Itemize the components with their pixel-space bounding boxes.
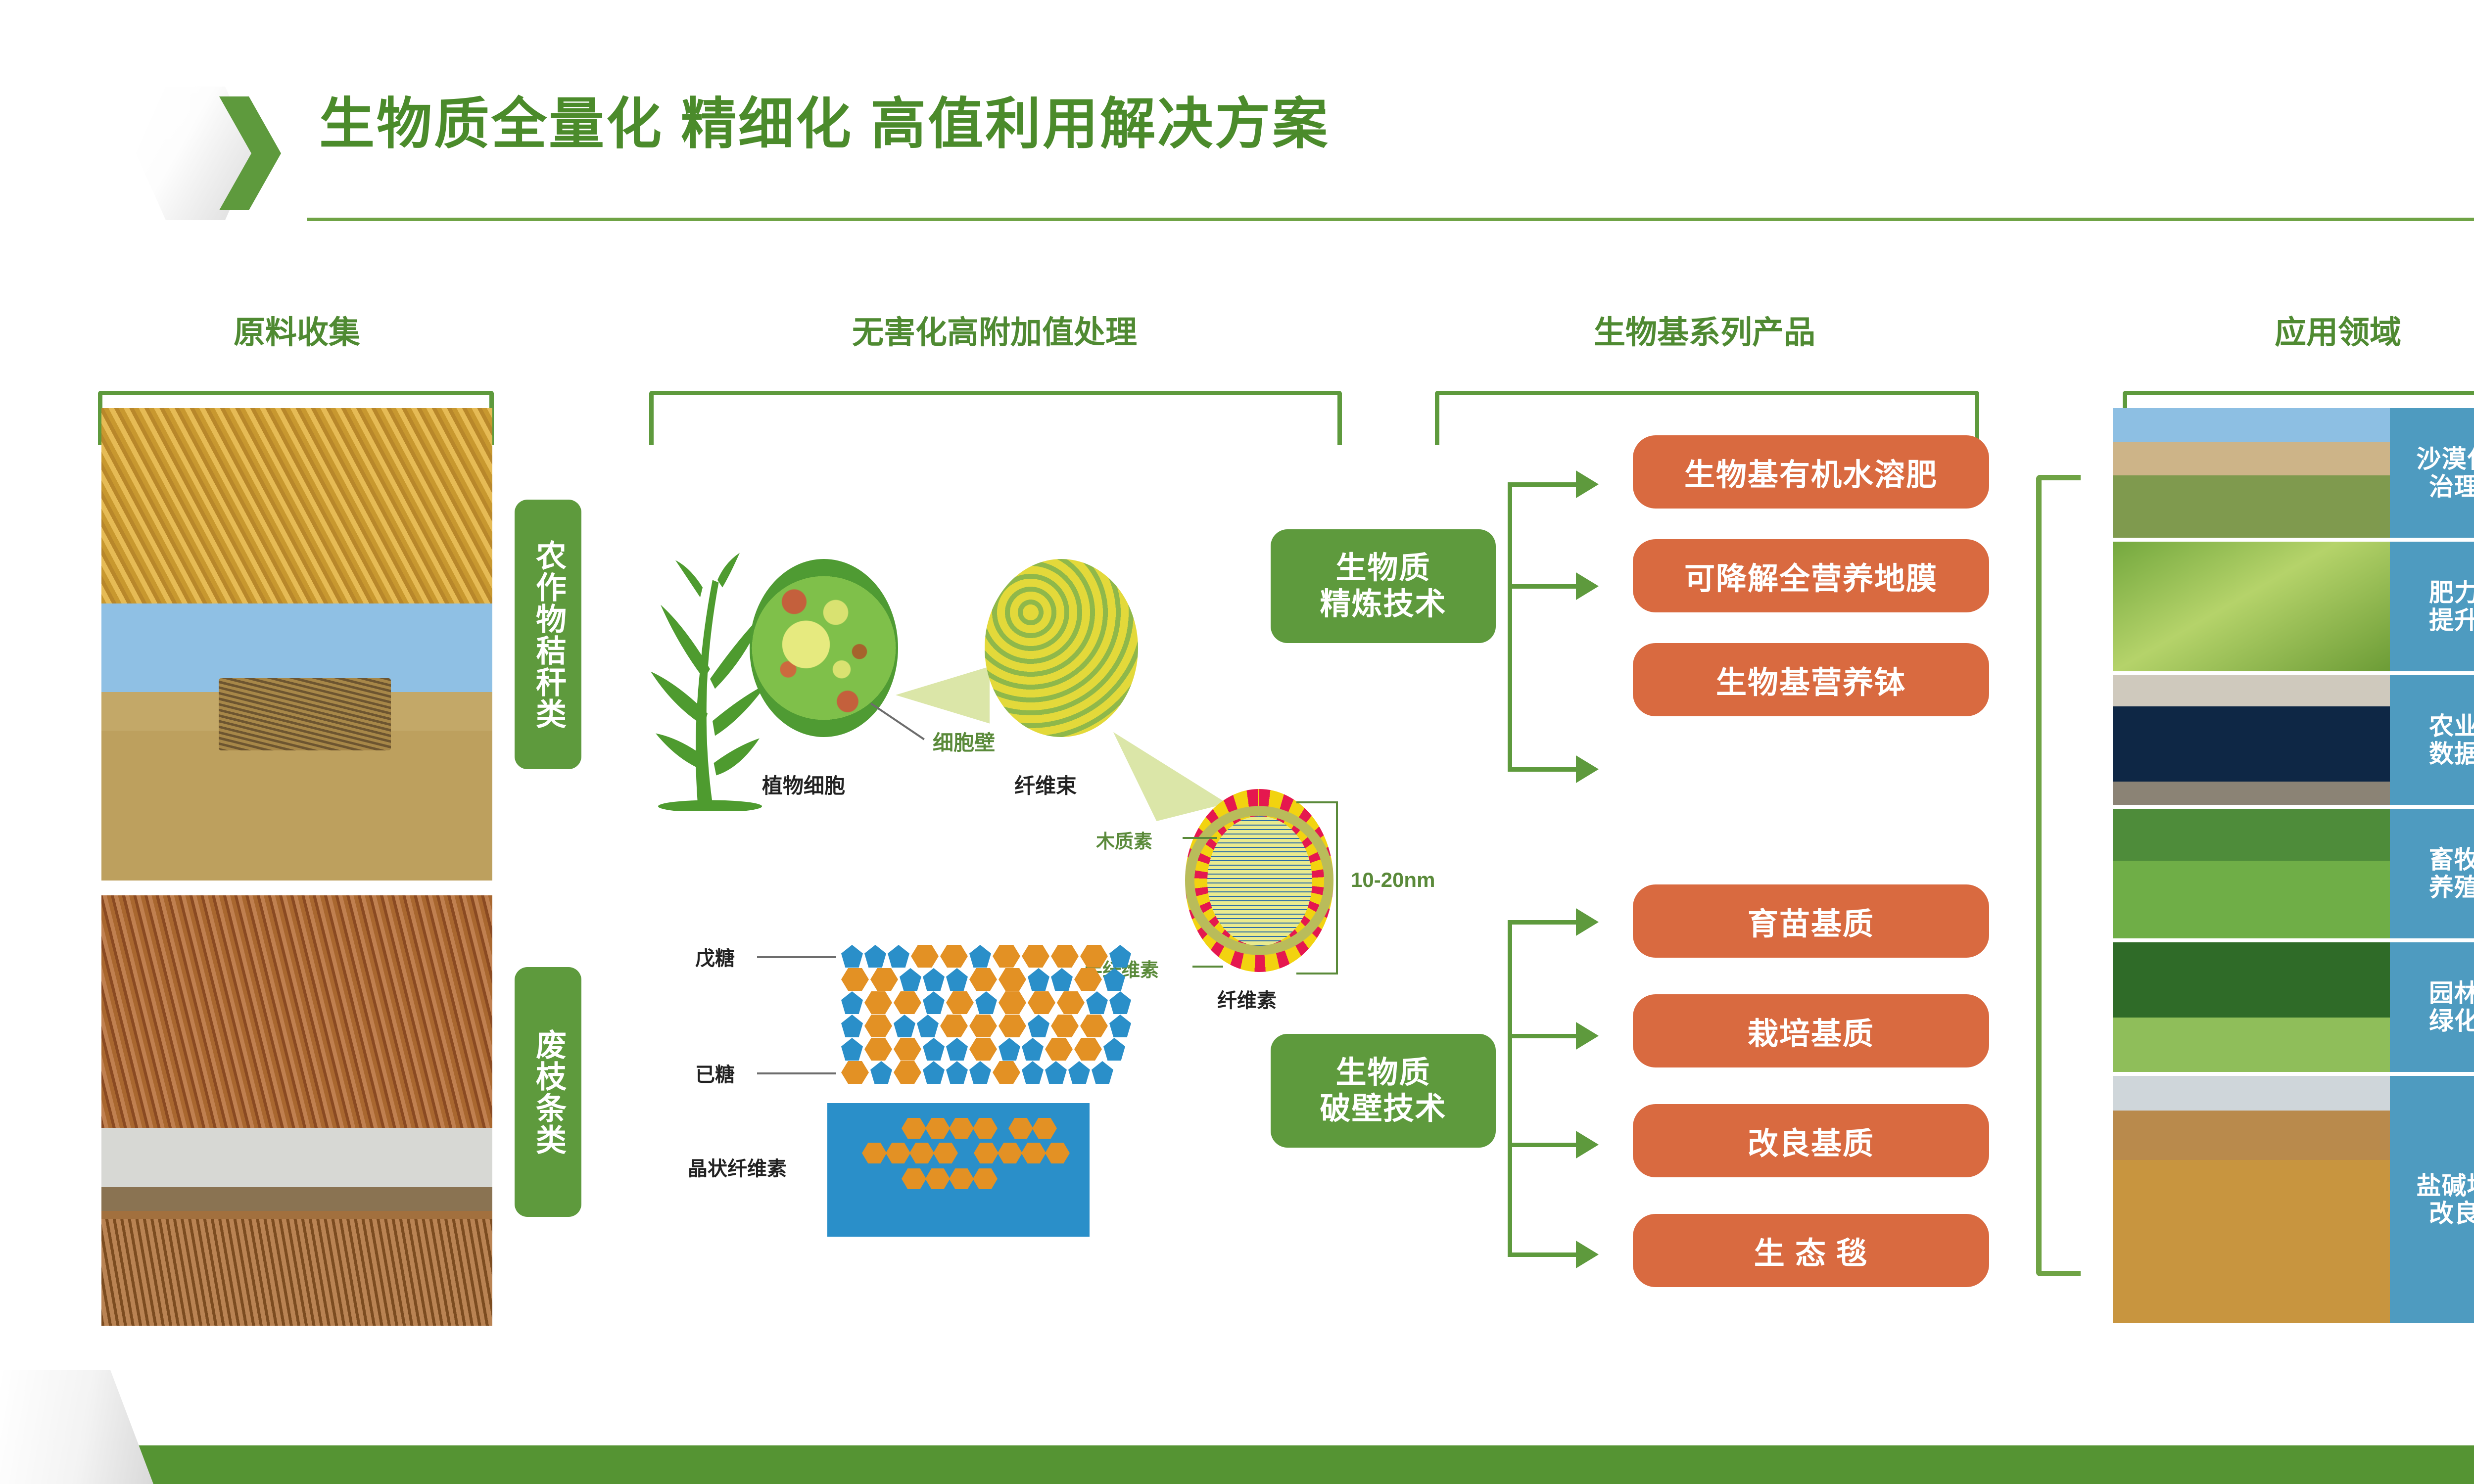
hay-bale-photo	[101, 603, 492, 881]
arrow-head-4	[1576, 908, 1599, 936]
lignin-label: 木质素	[1096, 826, 1152, 853]
waste-branch-photo	[101, 895, 492, 1128]
app-line-2: 绿化	[2429, 1007, 2474, 1035]
forest-photo	[2113, 942, 2390, 1072]
nano-scale-label: 10-20nm	[1351, 868, 1435, 892]
arrow-head-7	[1576, 1241, 1599, 1268]
corn-straw-photo	[101, 408, 492, 603]
application-row-agri-data[interactable]: 农业 数据	[2113, 675, 2474, 805]
application-tag-agri-data: 农业 数据	[2390, 675, 2474, 805]
application-tag-livestock: 畜牧 养殖	[2390, 809, 2474, 938]
bottom-white-wedge	[0, 1370, 153, 1484]
product-box-water-soluble-fertilizer[interactable]: 生物基有机水溶肥	[1633, 435, 1989, 509]
connector-arm-7	[1508, 1252, 1577, 1257]
bottom-green-bar	[0, 1445, 2474, 1484]
hexagon-chevron-icon	[136, 87, 285, 220]
app-line-1: 畜牧	[2429, 846, 2474, 874]
cellulose-core	[1207, 816, 1312, 946]
section-title-collection: 原料收集	[99, 317, 495, 348]
connector-arm-3	[1508, 767, 1577, 772]
application-row-desert[interactable]: 沙漠化 治理	[2113, 408, 2474, 538]
category-label-waste-branch: 废枝条类	[515, 967, 581, 1217]
connector-arm-4	[1508, 920, 1577, 925]
arrow-head-2	[1576, 572, 1599, 600]
dimension-tick-bottom	[1296, 973, 1338, 974]
app-line-2: 养殖	[2429, 874, 2474, 901]
product-box-nutrition-pot[interactable]: 生物基营养钵	[1633, 643, 1989, 716]
magnify-cone-2	[896, 665, 990, 725]
sugar-chain-diagram	[841, 945, 1188, 1083]
hemicellulose-leader-line	[1192, 966, 1223, 968]
fiber-bundle-label: 纤维束	[1014, 769, 1077, 799]
cellulose-label: 纤维素	[1217, 984, 1277, 1013]
section-title-applications: 应用领域	[2123, 317, 2474, 348]
dimension-tick-top	[1296, 801, 1338, 803]
desert-photo	[2113, 408, 2390, 538]
app-line-1: 盐碱地	[2417, 1172, 2474, 1200]
bracket-processing	[649, 391, 1342, 445]
product-box-improvement-substrate[interactable]: 改良基质	[1633, 1104, 1989, 1177]
app-line-1: 农业	[2429, 712, 2474, 740]
tech-line-1: 生物质	[1335, 1055, 1430, 1091]
cellwall-label: 细胞壁	[933, 726, 995, 756]
application-row-saline[interactable]: 盐碱地 改良	[2113, 1076, 2474, 1323]
application-row-fertility[interactable]: 肥力 提升	[2113, 542, 2474, 671]
application-tag-landscaping: 园林 绿化	[2390, 942, 2474, 1072]
infographic-slide: 生物质全量化 精细化 高值利用解决方案 原料收集 无害化高附加值处理 生物基系列…	[0, 0, 2474, 1484]
connector-arm-1	[1508, 482, 1577, 487]
tech-line-1: 生物质	[1335, 550, 1430, 586]
product-box-ecological-blanket[interactable]: 生 态 毯	[1633, 1214, 1989, 1287]
application-row-landscaping[interactable]: 园林 绿化	[2113, 942, 2474, 1072]
product-box-cultivation-substrate[interactable]: 栽培基质	[1633, 994, 1989, 1067]
app-line-2: 治理	[2429, 473, 2474, 501]
tech-box-refining[interactable]: 生物质 精炼技术	[1271, 529, 1496, 643]
connector-arm-5	[1508, 1034, 1577, 1038]
plant-cell-label: 植物细胞	[762, 769, 845, 799]
connector-trunk-refining	[1508, 482, 1512, 772]
section-title-processing: 无害化高附加值处理	[638, 317, 1351, 348]
product-box-seedling-substrate[interactable]: 育苗基质	[1633, 884, 1989, 958]
app-line-2: 改良	[2429, 1200, 2474, 1227]
fiber-bundle-illustration	[985, 559, 1138, 737]
page-title: 生物质全量化 精细化 高值利用解决方案	[319, 96, 1330, 152]
application-tag-saline: 盐碱地 改良	[2390, 1076, 2474, 1323]
app-line-1: 园林	[2429, 979, 2474, 1007]
app-line-1: 肥力	[2429, 579, 2474, 606]
title-divider	[307, 218, 2474, 221]
arrow-head-5	[1576, 1022, 1599, 1050]
category-label-crop-straw: 农作物秸秆类	[515, 500, 581, 769]
magnify-cone-3	[1113, 732, 1227, 821]
tech-line-2: 精炼技术	[1320, 586, 1446, 622]
datacenter-photo	[2113, 675, 2390, 805]
application-row-livestock[interactable]: 畜牧 养殖	[2113, 809, 2474, 938]
app-line-2: 提升	[2429, 606, 2474, 634]
application-tag-fertility: 肥力 提升	[2390, 542, 2474, 671]
application-tag-desert: 沙漠化 治理	[2390, 408, 2474, 538]
crystalline-cellulose-illustration	[827, 1103, 1090, 1237]
hexose-label: 已糖	[695, 1059, 735, 1087]
hexose-leader-line	[757, 1072, 836, 1074]
connector-arm-2	[1508, 584, 1577, 589]
connector-trunk-wall-breaking	[1508, 920, 1512, 1256]
tech-box-wall-breaking[interactable]: 生物质 破壁技术	[1271, 1034, 1496, 1148]
plant-cell-illustration	[750, 559, 898, 737]
pentose-label: 戊糖	[695, 942, 735, 971]
crystalline-cellulose-label: 晶状纤维素	[688, 1153, 787, 1181]
cellwall-leader-line	[870, 702, 925, 740]
lignin-leader-line	[1183, 837, 1217, 839]
app-line-2: 数据	[2429, 740, 2474, 768]
arrow-head-6	[1576, 1131, 1599, 1159]
arrow-head-3	[1576, 755, 1599, 783]
orchard-prune-photo	[101, 1128, 492, 1326]
app-line-1: 沙漠化	[2417, 445, 2474, 473]
section-title-products: 生物基系列产品	[1425, 317, 1984, 348]
product-box-degradable-mulch-film[interactable]: 可降解全营养地膜	[1633, 539, 1989, 612]
sheep-photo	[2113, 809, 2390, 938]
dimension-line	[1336, 801, 1338, 974]
connector-arm-6	[1508, 1143, 1577, 1147]
tech-line-2: 破壁技术	[1320, 1091, 1446, 1127]
arrow-head-1	[1576, 470, 1599, 498]
bracket-products-to-applications	[2036, 475, 2081, 1276]
saline-photo	[2113, 1076, 2390, 1323]
cabbage-photo	[2113, 542, 2390, 671]
pentose-leader-line	[757, 956, 836, 958]
